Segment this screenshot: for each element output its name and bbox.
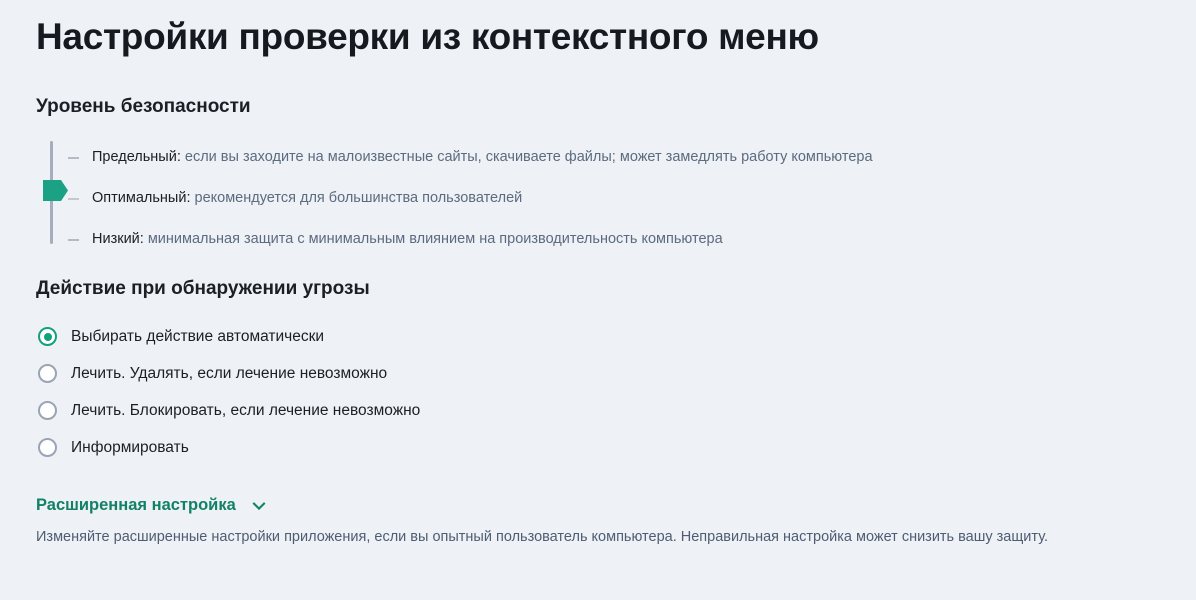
radio-button-icon[interactable]: [38, 327, 57, 346]
security-level-options: Предельный: если вы заходите на малоизве…: [36, 137, 1196, 260]
security-level-option-text: Низкий: минимальная защита с минимальным…: [92, 230, 723, 249]
threat-action-option-inform[interactable]: Информировать: [36, 429, 1196, 466]
page-title: Настройки проверки из контекстного меню: [36, 0, 1196, 62]
threat-action-option-label: Лечить. Блокировать, если лечение невозм…: [71, 401, 420, 421]
security-level-option-text: Оптимальный: рекомендуется для большинст…: [92, 189, 522, 208]
security-level-slider[interactable]: Предельный: если вы заходите на малоизве…: [36, 137, 1196, 247]
advanced-settings-section: Расширенная настройка Изменяйте расширен…: [36, 466, 1196, 547]
threat-action-option-automatic[interactable]: Выбирать действие автоматически: [36, 318, 1196, 355]
radio-button-icon[interactable]: [38, 364, 57, 383]
security-level-option-low[interactable]: Низкий: минимальная защита с минимальным…: [36, 219, 1196, 260]
threat-action-option-label: Информировать: [71, 438, 189, 458]
advanced-settings-description: Изменяйте расширенные настройки приложен…: [36, 516, 1196, 547]
threat-action-option-label: Лечить. Удалять, если лечение невозможно: [71, 364, 387, 384]
security-level-option-optimal[interactable]: Оптимальный: рекомендуется для большинст…: [36, 178, 1196, 219]
settings-page: Настройки проверки из контекстного меню …: [0, 0, 1196, 600]
threat-action-option-label: Выбирать действие автоматически: [71, 327, 324, 347]
security-level-option-description: если вы заходите на малоизвестные сайты,…: [181, 149, 873, 165]
security-level-option-name: Оптимальный:: [92, 190, 190, 206]
slider-tick-icon: [68, 239, 79, 241]
security-level-option-name: Низкий:: [92, 231, 144, 247]
slider-tick-icon: [68, 157, 79, 159]
advanced-settings-toggle[interactable]: Расширенная настройка: [36, 495, 268, 516]
security-level-option-description: рекомендуется для большинства пользовате…: [190, 190, 522, 206]
security-level-option-description: минимальная защита с минимальным влияние…: [144, 231, 723, 247]
security-level-option-maximum[interactable]: Предельный: если вы заходите на малоизве…: [36, 137, 1196, 178]
advanced-settings-label: Расширенная настройка: [36, 495, 236, 516]
threat-action-radio-group: Выбирать действие автоматически Лечить. …: [36, 301, 1196, 466]
threat-action-option-disinfect-block[interactable]: Лечить. Блокировать, если лечение невозм…: [36, 392, 1196, 429]
security-level-heading: Уровень безопасности: [36, 62, 1196, 119]
radio-button-icon[interactable]: [38, 438, 57, 457]
radio-button-icon[interactable]: [38, 401, 57, 420]
slider-tick-icon: [68, 198, 79, 200]
security-level-option-text: Предельный: если вы заходите на малоизве…: [92, 148, 873, 167]
chevron-down-icon[interactable]: [250, 497, 268, 515]
threat-action-option-disinfect-delete[interactable]: Лечить. Удалять, если лечение невозможно: [36, 355, 1196, 392]
security-level-option-name: Предельный:: [92, 149, 181, 165]
